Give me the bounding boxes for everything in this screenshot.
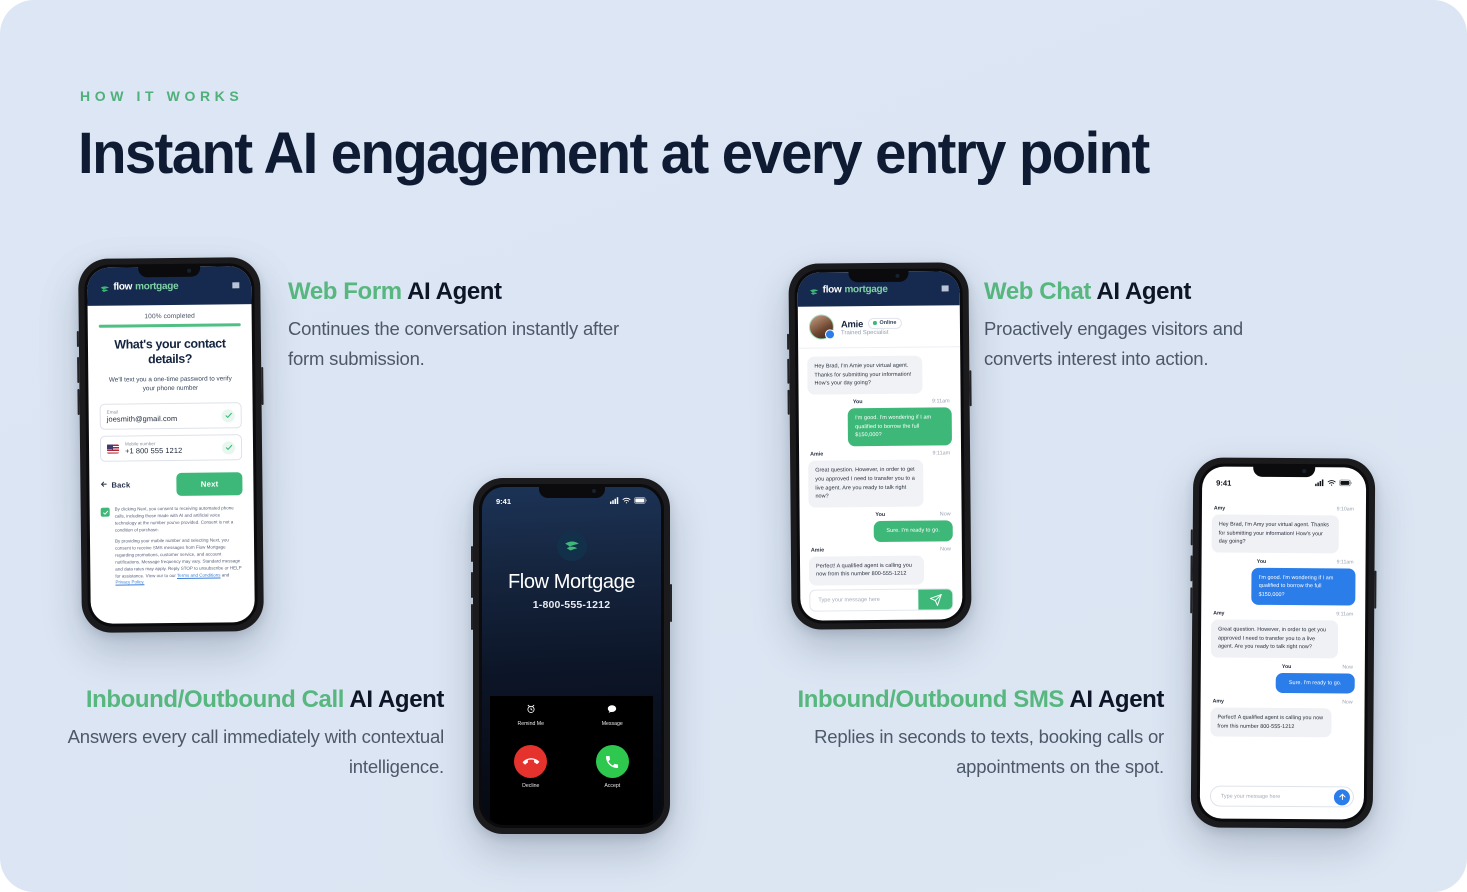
- front-camera-icon: [895, 273, 899, 277]
- alarm-icon: [501, 704, 561, 717]
- phone-mockup-web-form: flowmortgage 100% completed What's your …: [78, 257, 264, 633]
- status-bar: 9:41: [482, 497, 661, 506]
- chat-message-bubble: Great question. However, in order to get…: [808, 460, 924, 508]
- front-camera-icon: [187, 268, 191, 272]
- phone-screen-sms: 9:41: [1200, 466, 1366, 819]
- sms-message-sender: Amy: [1214, 506, 1225, 512]
- consent-checkbox[interactable]: [101, 508, 110, 517]
- chat-message-sender: You: [853, 399, 863, 405]
- agent-name: Amie: [841, 318, 863, 329]
- phone-mockup-sms: 9:41: [1191, 457, 1376, 828]
- front-camera-icon: [1302, 469, 1306, 473]
- phone-screen-incoming-call: 9:41: [482, 487, 661, 825]
- agent-role: Trained Specialist: [841, 329, 902, 336]
- progress-bar: [99, 323, 241, 327]
- chat-message-meta: You Now: [811, 511, 951, 518]
- caption-call-title-highlight: Inbound/Outbound Call: [86, 686, 344, 713]
- call-secondary-actions: Remind Me Message: [490, 696, 653, 727]
- phone-side-button: [471, 546, 473, 562]
- caption-web-chat-title-rest: AI Agent: [1091, 278, 1191, 305]
- privacy-policy-link[interactable]: Privacy Policy.: [115, 580, 144, 585]
- chat-message-bubble: I'm good. I'm wondering if I am qualifie…: [848, 407, 952, 446]
- hamburger-menu-icon[interactable]: [942, 285, 949, 291]
- caption-sms-body: Replies in seconds to texts, booking cal…: [760, 722, 1164, 782]
- remind-me-label: Remind Me: [501, 721, 561, 727]
- web-form-body: 100% completed What's your contact detai…: [88, 304, 255, 592]
- chat-message-bubble: Hey Brad, I'm Amie your virtual agent. T…: [807, 356, 923, 395]
- message-bubble-icon: [582, 704, 642, 717]
- phone-volume-down-button: [471, 604, 473, 630]
- agent-avatar: [809, 314, 834, 339]
- how-it-works-section: HOW IT WORKS Instant AI engagement at ev…: [0, 0, 1467, 892]
- caption-call-body: Answers every call immediately with cont…: [40, 722, 444, 782]
- chat-message-time: 9:11am: [932, 398, 950, 404]
- agent-name-line: Amie Online: [841, 317, 902, 329]
- sms-message-time: 9:11am: [1336, 612, 1353, 618]
- mobile-field-value: +1 800 555 1212: [125, 445, 222, 456]
- message-label: Message: [582, 721, 642, 727]
- chat-input-placeholder: Type your message here: [818, 597, 918, 604]
- chat-message-bubble: Sure. I'm ready to go.: [873, 520, 952, 541]
- front-camera-icon: [592, 489, 596, 493]
- chat-message-bubble: Perfect! A qualified agent is calling yo…: [809, 555, 924, 585]
- caller-number: 1-800-555-1212: [482, 599, 661, 611]
- arrow-up-icon[interactable]: [1334, 789, 1350, 805]
- brand-name-first: flow: [113, 281, 132, 292]
- wifi-icon: [1327, 479, 1336, 488]
- brand-name-first: flow: [823, 284, 842, 295]
- wifi-icon: [622, 497, 631, 506]
- sms-message-bubble: I'm good. I'm wondering if I am qualifie…: [1252, 567, 1356, 605]
- email-field-value: joesmith@gmail.com: [107, 413, 222, 424]
- agent-info: Amie Online Trained Specialist: [841, 317, 903, 336]
- caption-web-chat-title: Web Chat AI Agent: [984, 278, 1304, 306]
- flow-wave-logo-icon: [99, 281, 110, 292]
- caller-name: Flow Mortgage: [482, 571, 661, 594]
- email-field[interactable]: Email joesmith@gmail.com: [100, 402, 242, 429]
- call-primary-actions: Decline Accept: [490, 745, 653, 789]
- caption-web-form: Web Form AI Agent Continues the conversa…: [288, 278, 628, 374]
- sms-message-time: 9:11am: [1337, 559, 1354, 565]
- phone-volume-down-button: [788, 390, 790, 415]
- sms-message-sender: Amy: [1213, 611, 1224, 617]
- chat-input-bar[interactable]: Type your message here: [809, 588, 953, 611]
- caption-call: Inbound/Outbound Call AI Agent Answers e…: [40, 686, 444, 782]
- sms-message-bubble: Hey Brad, I'm Amy your virtual agent. Th…: [1212, 515, 1339, 553]
- sms-thread: Amy 9:10am Hey Brad, I'm Amy your virtua…: [1200, 493, 1366, 738]
- sms-message-bubble: Perfect! A qualified agent is calling yo…: [1210, 708, 1331, 738]
- message-button[interactable]: Message: [582, 704, 642, 727]
- phone-mockup-incoming-call: 9:41: [473, 478, 670, 834]
- sms-message-sender: Amy: [1213, 699, 1224, 705]
- decline-label: Decline: [501, 783, 561, 789]
- caption-web-form-body: Continues the conversation instantly aft…: [288, 314, 628, 374]
- email-field-content: Email joesmith@gmail.com: [107, 408, 222, 424]
- decline-call-button[interactable]: Decline: [501, 745, 561, 789]
- mobile-valid-check-icon: [222, 441, 235, 454]
- flowmortgage-logo[interactable]: flowmortgage: [99, 280, 178, 292]
- status-bar-time: 9:41: [1216, 479, 1231, 488]
- caption-web-form-title: Web Form AI Agent: [288, 278, 628, 306]
- caption-web-chat-body: Proactively engages visitors and convert…: [984, 314, 1304, 374]
- mobile-number-field[interactable]: Mobile number +1 800 555 1212: [100, 434, 242, 461]
- phone-bezel: flowmortgage Amie Online: [794, 268, 965, 623]
- section-eyebrow: HOW IT WORKS: [80, 88, 243, 104]
- chat-message-sender: Amie: [811, 547, 824, 553]
- sms-message-bubble: Great question. However, in order to get…: [1211, 620, 1338, 658]
- consent-paragraph-1: By clicking Next, you consent to receivi…: [115, 505, 243, 534]
- phone-screen-web-form: flowmortgage 100% completed What's your …: [87, 266, 255, 624]
- phone-bezel: 9:41: [479, 484, 664, 828]
- screenshot-root: HOW IT WORKS Instant AI engagement at ev…: [0, 0, 1467, 892]
- arrow-left-icon: [100, 481, 107, 490]
- sms-message-meta: Amy 9:11am: [1213, 611, 1353, 618]
- caller-avatar-logo: [557, 531, 587, 561]
- hamburger-menu-icon[interactable]: [232, 282, 239, 288]
- chat-agent-header: Amie Online Trained Specialist: [798, 305, 960, 348]
- caption-web-chat: Web Chat AI Agent Proactively engages vi…: [984, 278, 1304, 374]
- phone-screen-web-chat: flowmortgage Amie Online: [797, 271, 962, 620]
- phone-side-button: [787, 334, 789, 350]
- progress-label: 100% completed: [99, 312, 241, 320]
- brand-name-second: mortgage: [135, 280, 178, 291]
- accept-phone-icon: [596, 745, 629, 778]
- page-title: Instant AI engagement at every entry poi…: [78, 120, 1149, 187]
- status-dot-icon: [873, 321, 877, 325]
- caption-sms-title: Inbound/Outbound SMS AI Agent: [760, 686, 1164, 714]
- battery-icon: [1339, 479, 1352, 488]
- form-actions: Back Next: [100, 472, 242, 496]
- consent-block: By clicking Next, you consent to receivi…: [101, 505, 244, 592]
- agent-status-badge: Online: [868, 317, 902, 328]
- chat-message-sender: You: [875, 512, 885, 518]
- phone-power-button: [261, 367, 263, 405]
- decline-phone-icon: [514, 745, 547, 778]
- caption-sms: Inbound/Outbound SMS AI Agent Replies in…: [760, 686, 1164, 782]
- caption-web-chat-title-highlight: Web Chat: [984, 278, 1091, 305]
- phone-volume-up-button: [787, 359, 789, 384]
- form-subtext: We'll text you a one-time password to ve…: [99, 374, 241, 394]
- status-bar-icons: [610, 497, 647, 506]
- flowmortgage-logo[interactable]: flowmortgage: [809, 283, 888, 295]
- email-valid-check-icon: [222, 409, 235, 422]
- sms-message-time: Now: [1342, 700, 1352, 706]
- phone-power-button: [670, 584, 672, 622]
- caption-web-form-title-highlight: Web Form: [288, 278, 402, 305]
- sms-input-placeholder: Type your message here: [1221, 793, 1334, 800]
- phone-notch: [539, 484, 605, 498]
- call-action-tray: Remind Me Message: [490, 696, 653, 825]
- sms-message-meta: Amy Now: [1213, 699, 1353, 706]
- caption-web-form-title-rest: AI Agent: [402, 278, 502, 305]
- phone-side-button: [77, 331, 79, 347]
- status-bar-time: 9:41: [496, 497, 511, 506]
- phone-volume-up-button: [471, 572, 473, 598]
- chat-message-sender: Amie: [810, 452, 823, 458]
- phone-power-button: [1374, 571, 1376, 609]
- phone-notch: [1253, 464, 1315, 477]
- phone-notch: [848, 269, 908, 283]
- back-button-label: Back: [111, 480, 130, 489]
- send-icon[interactable]: [918, 589, 952, 609]
- back-button[interactable]: Back: [100, 480, 130, 489]
- phone-power-button: [969, 370, 971, 406]
- caption-sms-title-highlight: Inbound/Outbound SMS: [797, 686, 1064, 713]
- sms-message-bubble: Sure. I'm ready to go.: [1275, 673, 1354, 694]
- sms-message-meta: Amy 9:10am: [1214, 506, 1354, 513]
- status-bar-icons: [1315, 479, 1352, 488]
- sms-message-time: 9:10am: [1337, 506, 1354, 512]
- accept-label: Accept: [582, 783, 642, 789]
- chat-message-time: 9:11am: [932, 451, 950, 457]
- us-flag-icon: [107, 444, 119, 453]
- sms-message-time: Now: [1342, 664, 1352, 670]
- caption-call-title-rest: AI Agent: [344, 686, 444, 713]
- mobile-field-content: Mobile number +1 800 555 1212: [125, 440, 222, 456]
- accept-call-button[interactable]: Accept: [582, 745, 642, 789]
- phone-volume-down-button: [77, 389, 79, 415]
- battery-icon: [634, 497, 647, 506]
- chat-message-meta: Amie Now: [811, 546, 951, 553]
- phone-bezel: 9:41: [1197, 463, 1369, 822]
- next-button[interactable]: Next: [177, 472, 243, 496]
- sms-message-meta: You 9:11am: [1214, 558, 1354, 565]
- cellular-signal-icon: [1315, 479, 1324, 488]
- chat-message-meta: You 9:11am: [810, 398, 950, 405]
- chat-thread: Hey Brad, I'm Amie your virtual agent. T…: [798, 347, 962, 585]
- cellular-signal-icon: [610, 497, 619, 506]
- sms-message-meta: You Now: [1213, 663, 1353, 670]
- chat-message-time: Now: [940, 511, 951, 517]
- sms-message-sender: You: [1257, 558, 1266, 564]
- agent-status-label: Online: [880, 320, 897, 326]
- phone-mockup-web-chat: flowmortgage Amie Online: [788, 262, 971, 630]
- consent-and-text: and: [220, 572, 229, 577]
- phone-volume-up-button: [1190, 555, 1192, 581]
- chat-message-time: Now: [940, 546, 951, 552]
- chat-message-meta: Amie 9:11am: [810, 451, 950, 458]
- phone-volume-up-button: [77, 357, 79, 383]
- brand-name-second: mortgage: [844, 283, 887, 294]
- phone-side-button: [1191, 529, 1193, 545]
- terms-and-conditions-link[interactable]: Terms and Conditions: [177, 572, 221, 577]
- phone-volume-down-button: [1190, 587, 1192, 613]
- consent-paragraph-2: By providing your mobile number and sele…: [115, 538, 243, 587]
- caption-sms-title-rest: AI Agent: [1064, 686, 1164, 713]
- remind-me-button[interactable]: Remind Me: [501, 704, 561, 727]
- sms-message-sender: You: [1282, 664, 1291, 670]
- phone-notch: [138, 264, 200, 278]
- sms-input-bar[interactable]: Type your message here: [1210, 785, 1354, 807]
- flow-wave-logo-icon: [809, 284, 820, 295]
- caption-call-title: Inbound/Outbound Call AI Agent: [40, 686, 444, 714]
- consent-fine-print: By clicking Next, you consent to receivi…: [115, 505, 244, 591]
- form-question: What's your contact details?: [99, 336, 241, 368]
- phone-bezel: flowmortgage 100% completed What's your …: [84, 263, 258, 627]
